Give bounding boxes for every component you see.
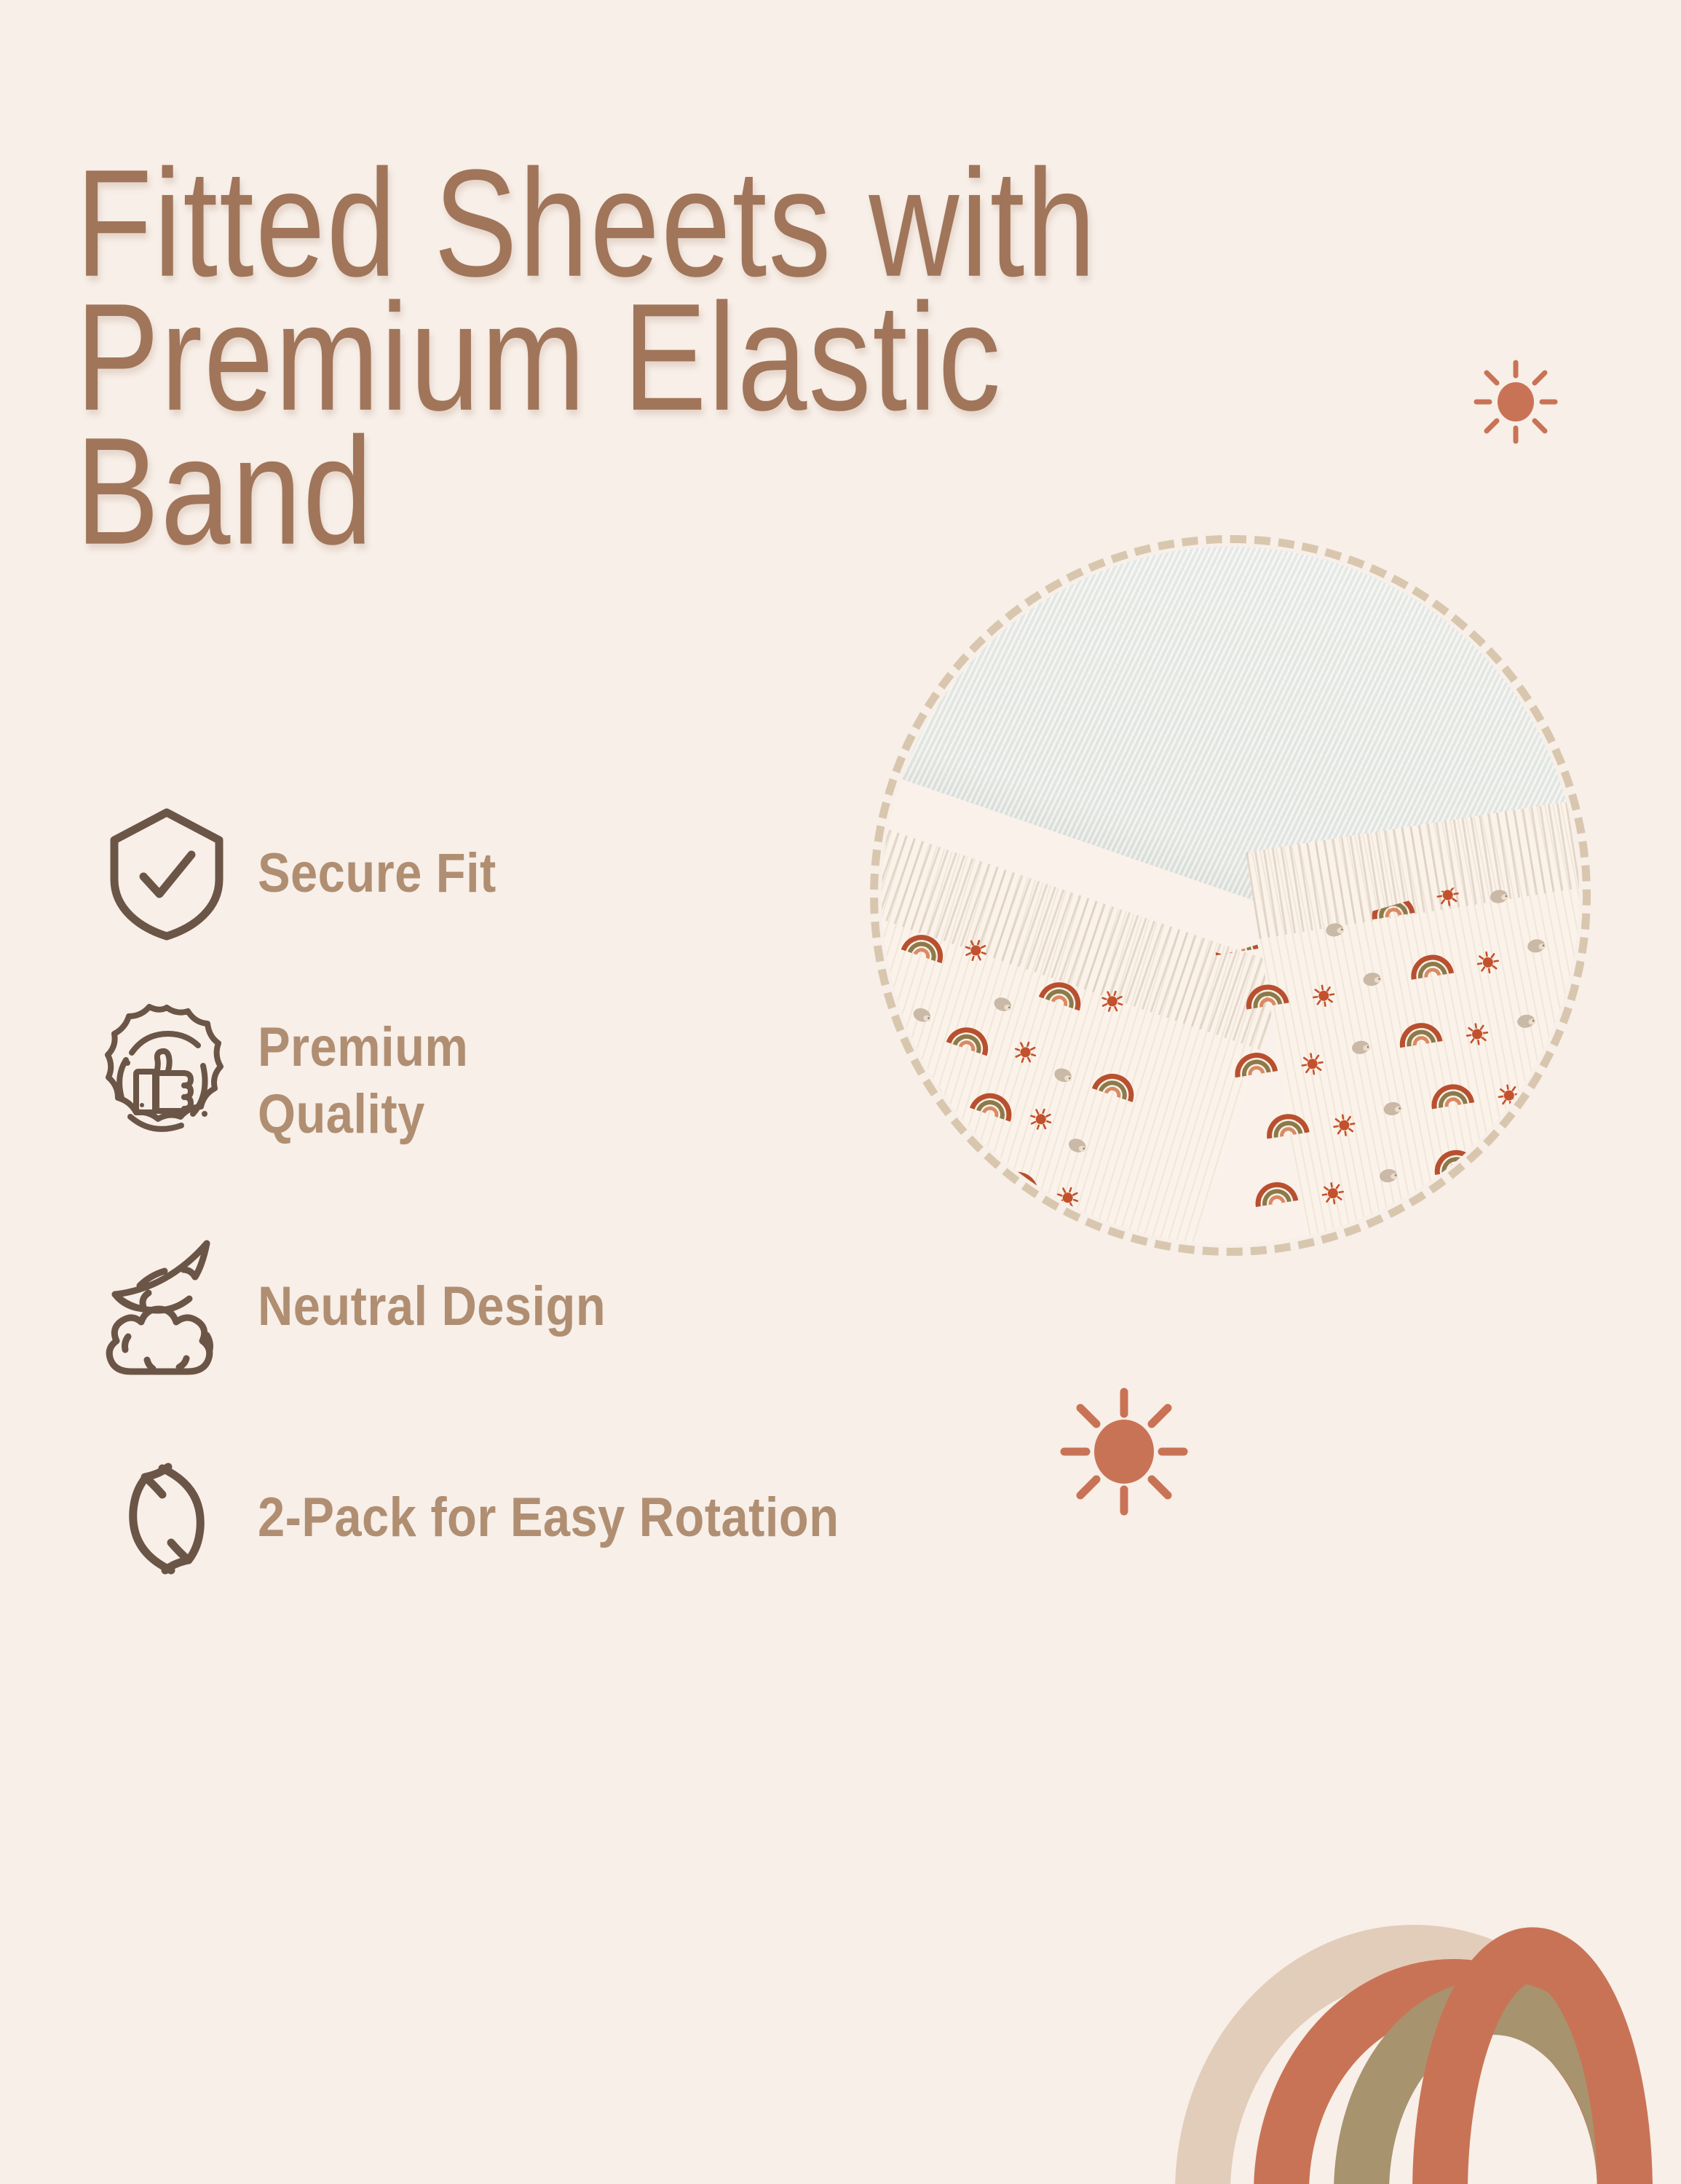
product-photo xyxy=(870,535,1591,1256)
title-line-1: Fitted Sheets with xyxy=(76,164,1503,282)
feature-label-secure-fit: Secure Fit xyxy=(258,842,497,905)
fabric-print-motifs xyxy=(882,547,1579,1244)
feature-item-rotation: 2-Pack for Easy Rotation xyxy=(76,1416,1211,1620)
quality-badge-thumbs-up-icon xyxy=(76,997,258,1165)
feather-cloud-icon xyxy=(76,1223,258,1390)
feature-label-neutral-design: Neutral Design xyxy=(258,1275,606,1338)
corner-rainbow-decoration xyxy=(1174,1538,1681,2184)
page-title: Fitted Sheets with Premium Elastic Band xyxy=(76,164,1503,566)
infographic-page: Fitted Sheets with Premium Elastic Band … xyxy=(0,0,1681,2184)
feature-label-premium-quality: Premium Quality xyxy=(258,1014,468,1148)
fitted-sheet-corner-image xyxy=(882,547,1579,1244)
title-line-2: Premium Elastic xyxy=(76,298,1503,416)
rotation-arrows-icon xyxy=(76,1434,258,1602)
sun-top-right-icon xyxy=(1472,358,1559,446)
photo-clip xyxy=(882,547,1579,1244)
title-line-3: Band xyxy=(76,432,1503,550)
sun-middle-right-icon xyxy=(1057,1385,1192,1519)
feature-label-rotation: 2-Pack for Easy Rotation xyxy=(258,1487,839,1549)
shield-check-icon xyxy=(76,790,258,957)
